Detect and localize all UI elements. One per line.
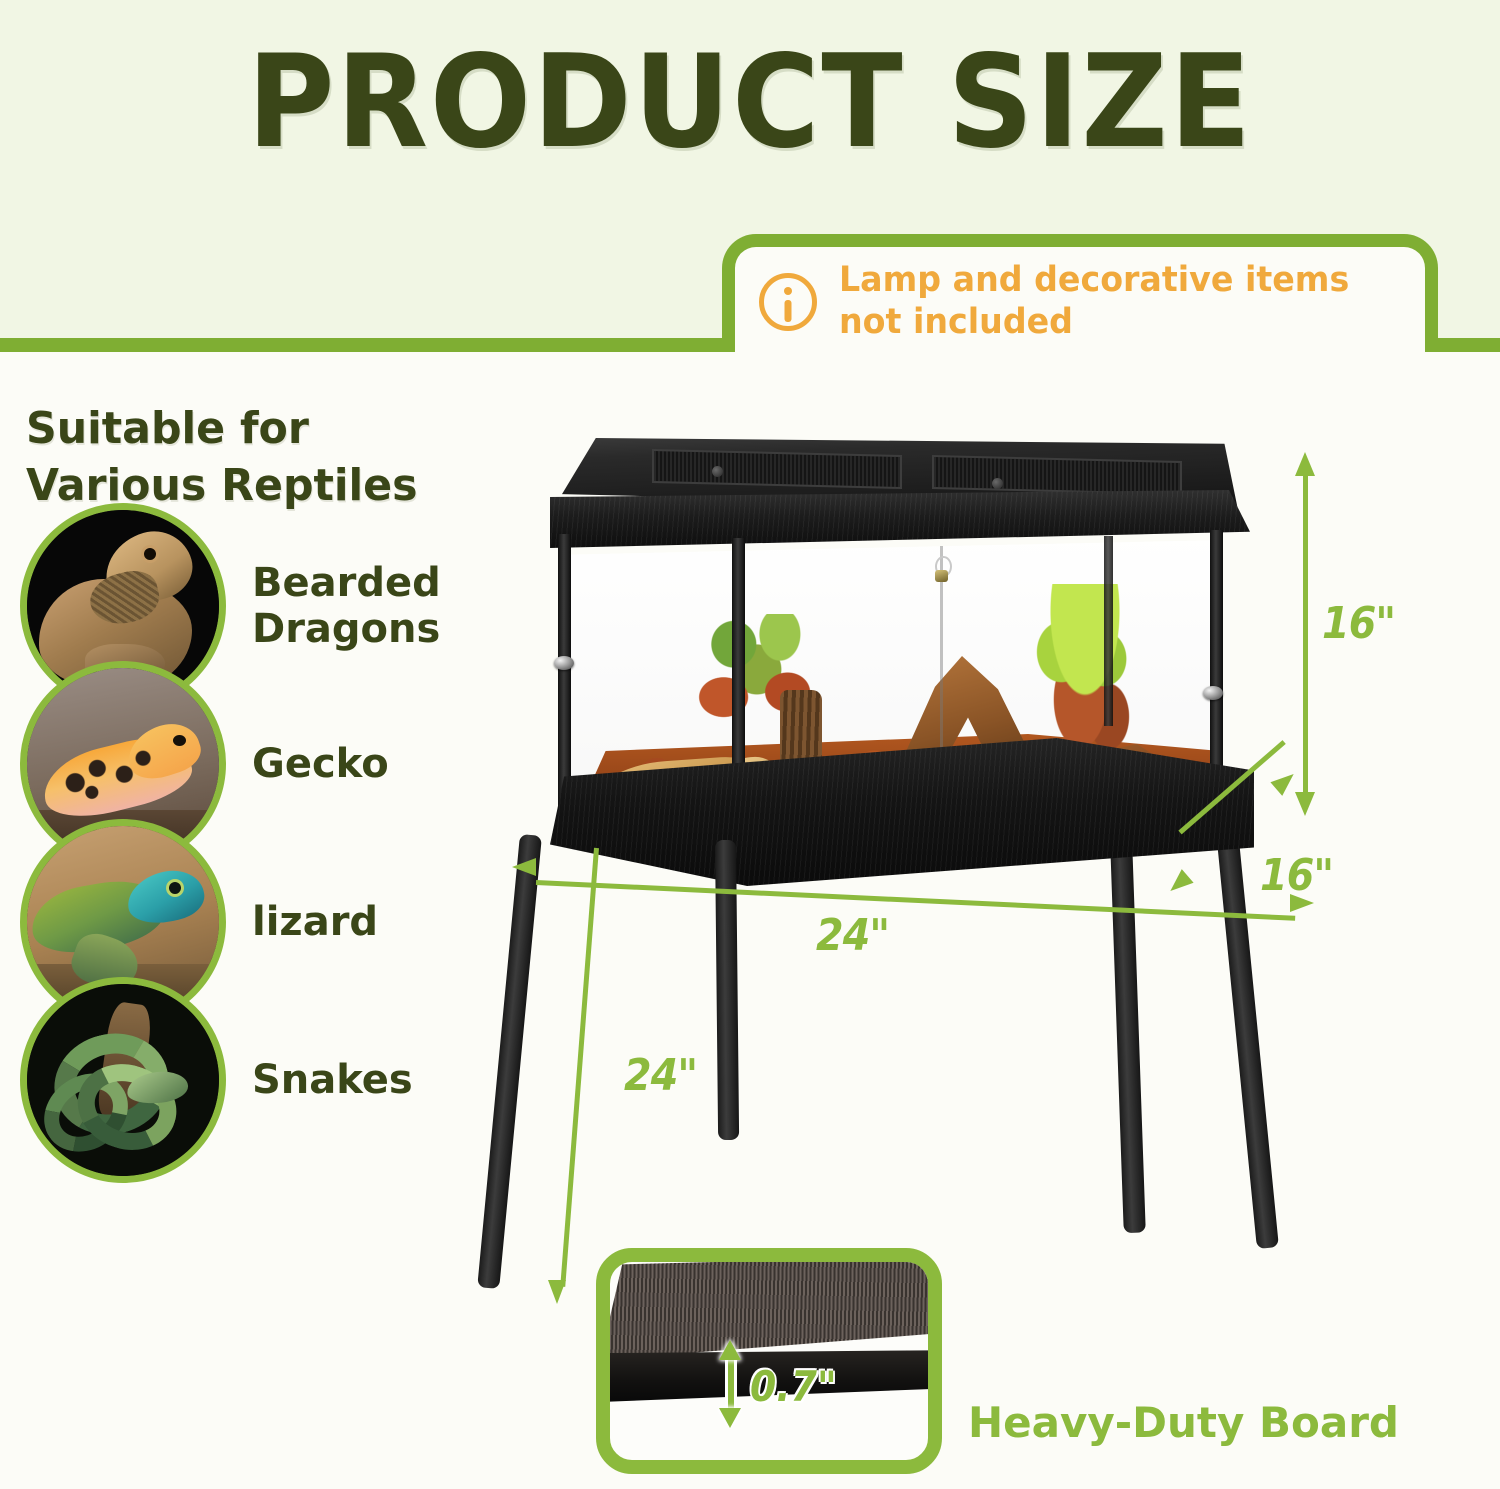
info-badge-content: Lamp and decorative items not included xyxy=(735,247,1425,352)
reptile-label: lizard xyxy=(252,899,378,945)
info-badge-line-2: not included xyxy=(839,302,1349,343)
height-arrow-down-icon xyxy=(1295,792,1315,816)
suitable-heading-line-1: Suitable for xyxy=(26,400,482,457)
snake-photo xyxy=(20,977,226,1183)
board-caption: Heavy-Duty Board xyxy=(968,1398,1399,1447)
board-thickness-label: 0.7" xyxy=(750,1362,837,1411)
board-top-surface xyxy=(600,1256,942,1360)
leg-height-arrow-down-icon xyxy=(548,1280,566,1304)
tank-corner-post-mid xyxy=(732,538,745,788)
stand-leg-front-right xyxy=(715,840,739,1140)
reptile-label: Snakes xyxy=(252,1057,413,1103)
door-knob-left[interactable] xyxy=(554,656,574,670)
tank-corner-post-right xyxy=(1210,530,1223,800)
reptile-label: Bearded Dragons xyxy=(252,560,441,653)
width-arrow-left-icon xyxy=(512,858,536,876)
lid-screw xyxy=(992,478,1003,489)
info-badge: Lamp and decorative items not included xyxy=(722,234,1438,352)
decor-plant-right xyxy=(1026,584,1144,754)
door-lock-icon[interactable] xyxy=(928,556,954,586)
list-item: Snakes xyxy=(20,1004,490,1156)
reptile-label: Gecko xyxy=(252,741,389,787)
info-badge-line-1: Lamp and decorative items xyxy=(839,260,1349,301)
tank-back-post xyxy=(1104,536,1113,726)
lid-mesh-panel-right xyxy=(932,455,1182,495)
terrarium-tank xyxy=(510,438,1250,868)
stand-leg-front-left xyxy=(477,834,542,1289)
infographic-canvas: PRODUCT SIZE Lamp and decorative items n… xyxy=(0,0,1500,1489)
page-title: PRODUCT SIZE xyxy=(53,36,1448,170)
board-thickness-arrow-up-icon xyxy=(719,1340,741,1360)
list-item: lizard xyxy=(20,846,490,998)
list-item: Gecko xyxy=(20,688,490,840)
tank-corner-post-left xyxy=(558,534,571,806)
height-dimension-line xyxy=(1303,470,1308,798)
height-arrow-up-icon xyxy=(1295,452,1315,476)
board-detail-card: 0.7" xyxy=(596,1248,942,1474)
door-knob-right[interactable] xyxy=(1203,686,1223,700)
wood-grain-texture xyxy=(550,490,1250,548)
leg-height-dimension-label: 24" xyxy=(624,1050,697,1101)
info-circle-icon xyxy=(759,273,817,331)
suitable-for-heading: Suitable for Various Reptiles xyxy=(26,400,482,514)
lid-screw xyxy=(712,466,723,477)
reptile-list: Bearded Dragons Gecko lizard xyxy=(20,530,490,1162)
board-thickness-arrow-down-icon xyxy=(719,1408,741,1428)
info-badge-text: Lamp and decorative items not included xyxy=(839,260,1376,343)
lid-mesh-panel-left xyxy=(652,449,902,489)
tank-top-frame xyxy=(550,490,1250,548)
stand-leg-back-left xyxy=(1110,838,1146,1234)
board-thickness-line xyxy=(728,1354,734,1414)
width-dimension-label: 24" xyxy=(816,910,889,961)
list-item: Bearded Dragons xyxy=(20,530,490,682)
snake-art xyxy=(27,984,219,1176)
height-dimension-label: 16" xyxy=(1322,598,1395,649)
width-arrow-right-icon xyxy=(1290,894,1314,912)
